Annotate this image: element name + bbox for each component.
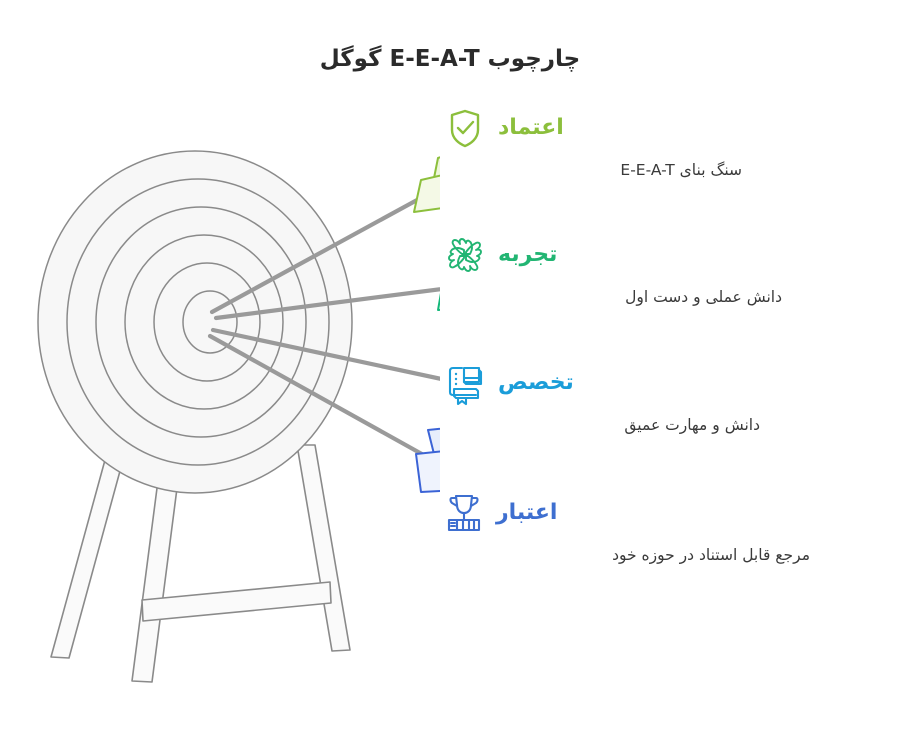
trophy-on-books-icon	[440, 490, 486, 536]
pillar-item-experience[interactable]: تجربه	[500, 227, 900, 347]
pillar-head-trust: اعتماد	[442, 100, 602, 156]
pillar-head-experience: تجربه	[442, 227, 602, 283]
book-certificate-icon	[442, 360, 488, 406]
handshake-hands-icon	[442, 232, 488, 278]
pillar-desc-experience: دانش عملی و دست اول	[500, 285, 900, 309]
arrow-fletching-experience	[438, 236, 440, 310]
pillar-head-authority: اعتبار	[440, 485, 600, 541]
arrow-fletching-authority	[416, 426, 440, 492]
arrow-fletching-trust	[414, 146, 440, 212]
pillar-title-experience: تجربه	[498, 240, 557, 270]
pillar-desc-expertise: دانش و مهارت عمیق	[500, 413, 900, 437]
pillar-list: اعتماد سنگ بنای E-E-A-T تجربه	[500, 100, 900, 620]
pillar-title-expertise: تخصص	[498, 368, 574, 398]
pillar-item-expertise[interactable]: تخصص	[500, 355, 900, 475]
pillar-desc-authority: مرجع قابل استناد در حوزه خود	[500, 543, 900, 567]
target-illustration	[20, 130, 440, 700]
pillar-desc-trust: سنگ بنای E-E-A-T	[500, 158, 900, 182]
target-rings	[38, 151, 352, 493]
pillar-title-authority: اعتبار	[496, 498, 557, 528]
infographic-page: چارچوب E-E-A-T گوگل	[0, 0, 900, 746]
shield-check-icon	[442, 105, 488, 151]
pillar-item-authority[interactable]: اعتبار	[500, 485, 900, 605]
pillar-head-expertise: تخصص	[442, 355, 602, 411]
page-title: چارچوب E-E-A-T گوگل	[0, 44, 900, 74]
pillar-title-trust: اعتماد	[498, 113, 564, 143]
pillar-item-trust[interactable]: اعتماد سنگ بنای E-E-A-T	[500, 100, 900, 220]
